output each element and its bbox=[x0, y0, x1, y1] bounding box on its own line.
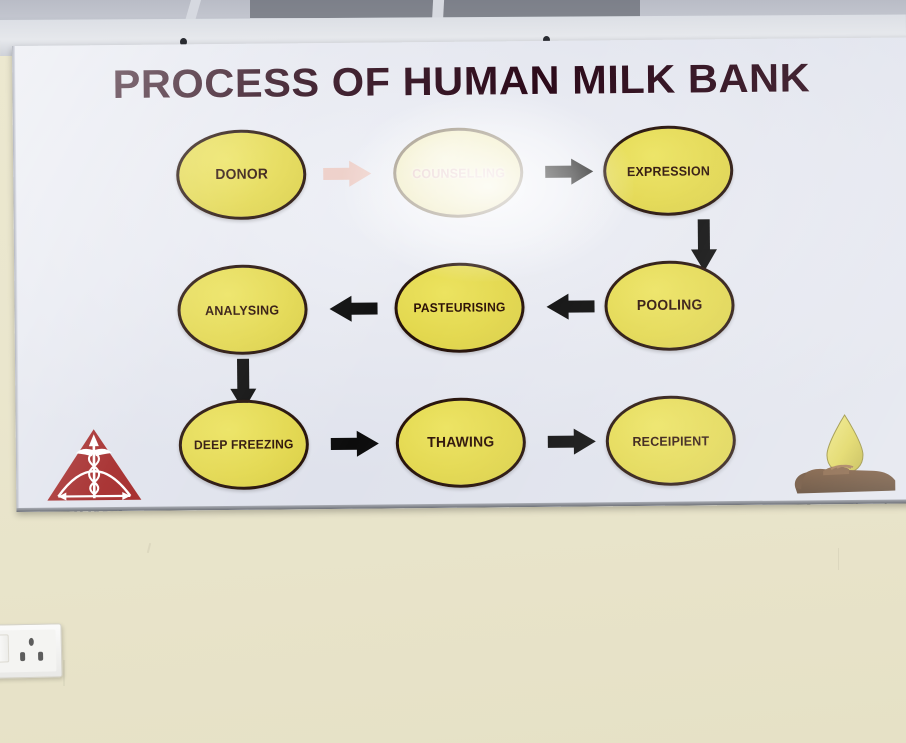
arrow-donor-to-counselling-icon bbox=[323, 161, 371, 187]
arrow-shaft bbox=[331, 438, 358, 450]
flow-node-label: RECEIPIENT bbox=[632, 433, 709, 449]
arrow-head bbox=[574, 428, 596, 454]
srmc-triangle-caduceus-icon bbox=[44, 426, 145, 505]
arrow-head bbox=[349, 161, 371, 187]
socket-neutral-hole-icon bbox=[38, 652, 43, 661]
arrow-pasteurising-to-analysing-icon bbox=[329, 296, 377, 322]
flow-node-label: DEEP FREEZING bbox=[194, 437, 294, 452]
flow-node-receipient[interactable]: RECEIPIENT bbox=[605, 395, 736, 486]
flow-node-thawing[interactable]: THAWING bbox=[395, 397, 526, 488]
socket-earth-hole-icon bbox=[29, 638, 34, 646]
arrow-shaft bbox=[548, 436, 575, 448]
arrow-head bbox=[546, 294, 568, 320]
arrow-thawing-to-receipient-icon bbox=[548, 428, 596, 454]
flow-node-label: EXPRESSION bbox=[627, 163, 710, 179]
socket-live-hole-icon bbox=[20, 652, 25, 661]
flow-node-label: POOLING bbox=[637, 297, 703, 314]
wall-scuff-mark bbox=[838, 548, 839, 570]
flow-node-label: COUNSELLING bbox=[412, 165, 505, 181]
flow-node-label: THAWING bbox=[427, 434, 494, 451]
process-flowchart: DONOR COUNSELLING EXPRESSION bbox=[13, 103, 906, 512]
arrow-shaft bbox=[237, 359, 249, 390]
arrow-deep-freezing-to-thawing-icon bbox=[331, 430, 379, 456]
srmc-logo: SRMC bbox=[38, 426, 151, 512]
flow-node-pooling[interactable]: POOLING bbox=[604, 260, 735, 351]
arrow-head bbox=[357, 430, 379, 456]
arrow-shaft bbox=[323, 168, 350, 180]
wall-scuff-mark bbox=[63, 660, 65, 686]
arrow-counselling-to-expression-icon bbox=[545, 158, 593, 184]
page-title: PROCESS OF HUMAN MILK BANK bbox=[12, 55, 906, 109]
flow-node-donor[interactable]: DONOR bbox=[176, 129, 307, 220]
photo-scene: PROCESS OF HUMAN MILK BANK DONOR COUNSEL… bbox=[0, 0, 906, 743]
flow-node-expression[interactable]: EXPRESSION bbox=[603, 125, 734, 216]
flow-node-counselling[interactable]: COUNSELLING bbox=[393, 127, 524, 218]
wall-power-socket[interactable] bbox=[0, 623, 63, 678]
arrow-shaft bbox=[350, 303, 377, 315]
arrow-shaft bbox=[698, 219, 710, 250]
flow-node-analysing[interactable]: ANALYSING bbox=[177, 264, 308, 355]
arrow-head bbox=[571, 158, 593, 184]
hand-holding-milk-drop-icon bbox=[785, 408, 904, 501]
flow-node-label: ANALYSING bbox=[205, 302, 279, 318]
ceiling-shadow bbox=[250, 0, 640, 18]
flow-node-label: DONOR bbox=[215, 167, 268, 184]
flow-node-pasteurising[interactable]: PASTEURISING bbox=[394, 262, 525, 353]
arrow-shaft bbox=[567, 300, 594, 312]
flow-node-deep-freezing[interactable]: DEEP FREEZING bbox=[178, 399, 309, 490]
maatru-amrit-logo: Maatru Amrit Human Milk Bank Experts bbox=[781, 408, 906, 512]
flow-node-label: PASTEURISING bbox=[413, 300, 505, 315]
sign-board: PROCESS OF HUMAN MILK BANK DONOR COUNSEL… bbox=[12, 37, 906, 512]
arrow-pooling-to-pasteurising-icon bbox=[546, 293, 594, 319]
arrow-head bbox=[329, 296, 351, 322]
socket-switch-icon[interactable] bbox=[0, 634, 9, 662]
arrow-shaft bbox=[545, 166, 572, 178]
